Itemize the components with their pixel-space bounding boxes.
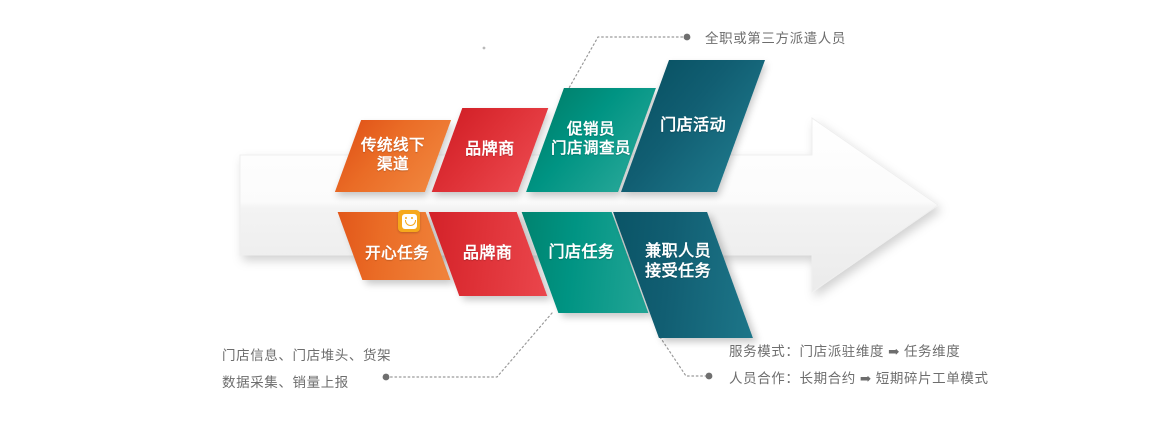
smiley-mouth [405, 220, 416, 226]
stray-dot [483, 47, 486, 50]
annotation-bottom-left-line1: 门店信息、门店堆头、货架 [222, 342, 391, 369]
connector-bottom-left [388, 313, 552, 377]
smiley-eye-right [411, 217, 413, 219]
node-label: 品牌商 [465, 140, 515, 160]
node-label: 门店任务 [548, 243, 614, 263]
connector-dot-top-right [684, 34, 691, 41]
smiley-icon [398, 210, 420, 232]
annotation-top-right: 全职或第三方派遣人员 [705, 25, 846, 52]
connector-dot-bottom-right [706, 373, 713, 380]
diagram-canvas: 传统线下 渠道 品牌商 促销员 门店调查员 门店活动 开心任务 品牌商 门店任务… [0, 0, 1150, 430]
connector-bottom-right [660, 337, 707, 376]
annotation-bottom-right-line1: 服务模式：门店派驻维度 ➡ 任务维度 [729, 338, 960, 365]
annotation-bottom-left-line2: 数据采集、销量上报 [222, 369, 349, 396]
annotation-bottom-right-line2: 人员合作：长期合约 ➡ 短期碎片工单模式 [729, 365, 989, 392]
smiley-eye-left [405, 217, 407, 219]
node-label: 开心任务 [365, 245, 429, 264]
node-label: 品牌商 [463, 244, 513, 264]
node-label: 促销员 门店调查员 [551, 121, 631, 159]
connector-dot-bottom-left [383, 374, 390, 381]
smiley-face [402, 214, 417, 229]
node-label: 传统线下 渠道 [361, 137, 425, 175]
node-label: 门店活动 [660, 116, 726, 136]
node-label: 兼职人员 接受任务 [645, 242, 711, 281]
